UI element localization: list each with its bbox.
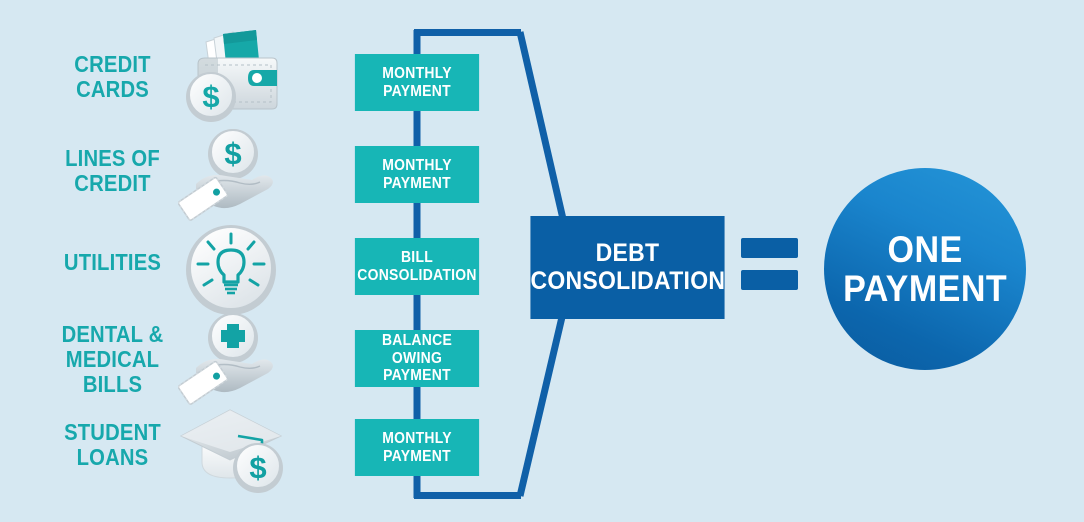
payment-box-line: MONTHLY (355, 430, 479, 447)
one-payment-circle: ONE PAYMENT (824, 168, 1026, 370)
hand-holding-medical-cross-icon (178, 312, 288, 408)
payment-box-line: PAYMENT (355, 448, 479, 465)
payment-box-monthly-payment-1: MONTHLY PAYMENT (355, 54, 479, 111)
payment-box-bill-consolidation: BILL CONSOLIDATION (355, 238, 479, 295)
wallet-cash-icon: $ (178, 28, 288, 124)
svg-text:$: $ (224, 136, 241, 171)
payment-box-line: MONTHLY (355, 157, 479, 174)
payment-box-monthly-payment-3: MONTHLY PAYMENT (355, 419, 479, 476)
payment-box-line: PAYMENT (355, 83, 479, 100)
payment-box-line: MONTHLY (355, 65, 479, 82)
one-payment-line: ONE (843, 230, 1007, 269)
payment-box-line: PAYMENT (355, 367, 479, 384)
infographic-canvas: CREDIT CARDS LINES OF CREDIT UTILITIES D… (0, 0, 1084, 522)
debt-consolidation-line: DEBT (530, 240, 724, 268)
hand-holding-coin-icon: $ (178, 128, 288, 224)
payment-box-monthly-payment-2: MONTHLY PAYMENT (355, 146, 479, 203)
debt-consolidation-line: CONSOLIDATION (530, 268, 724, 296)
equals-sign-bar-bottom (741, 270, 798, 290)
payment-box-line: BILL (355, 249, 479, 266)
equals-sign-bar-top (741, 238, 798, 258)
lightbulb-icon (178, 222, 288, 318)
payment-box-line: CONSOLIDATION (355, 267, 479, 284)
svg-text:$: $ (249, 450, 266, 485)
payment-box-line: PAYMENT (355, 175, 479, 192)
payment-box-line: BALANCE OWING (355, 332, 479, 367)
one-payment-line: PAYMENT (843, 269, 1007, 308)
svg-text:$: $ (202, 79, 219, 114)
graduation-cap-coin-icon: $ (178, 400, 288, 496)
payment-box-balance-owing-payment: BALANCE OWING PAYMENT (355, 330, 479, 387)
debt-consolidation-box: DEBT CONSOLIDATION (530, 216, 724, 319)
